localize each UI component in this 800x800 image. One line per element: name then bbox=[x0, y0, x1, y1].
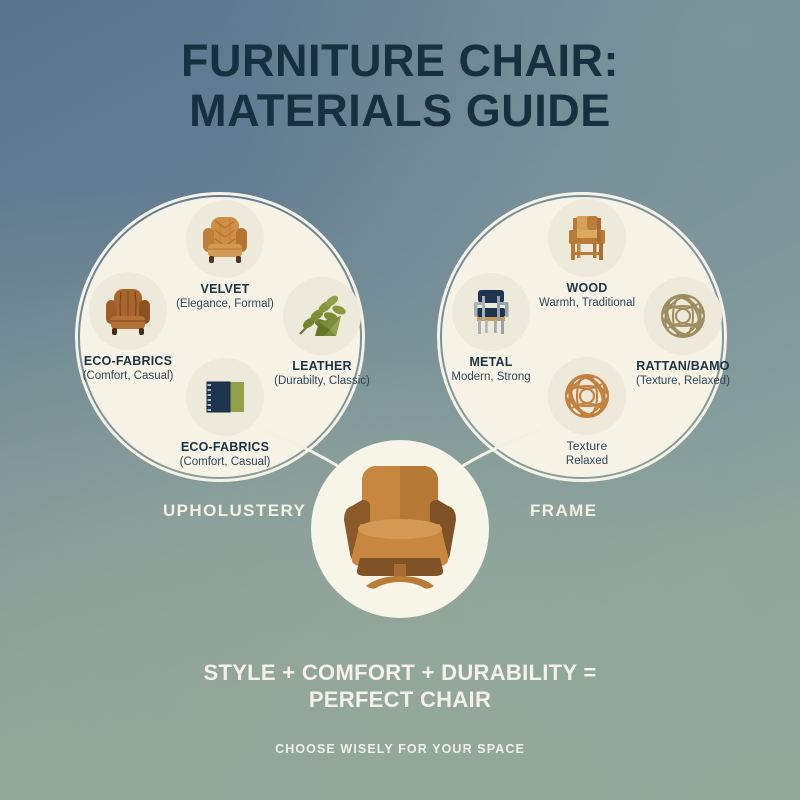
infographic-canvas: FURNITURE CHAIR: MATERIALS GUIDE VELVET … bbox=[0, 0, 800, 800]
swivel-armchair-icon bbox=[330, 462, 470, 592]
connector-lines bbox=[0, 0, 800, 800]
center-circle bbox=[311, 440, 489, 618]
